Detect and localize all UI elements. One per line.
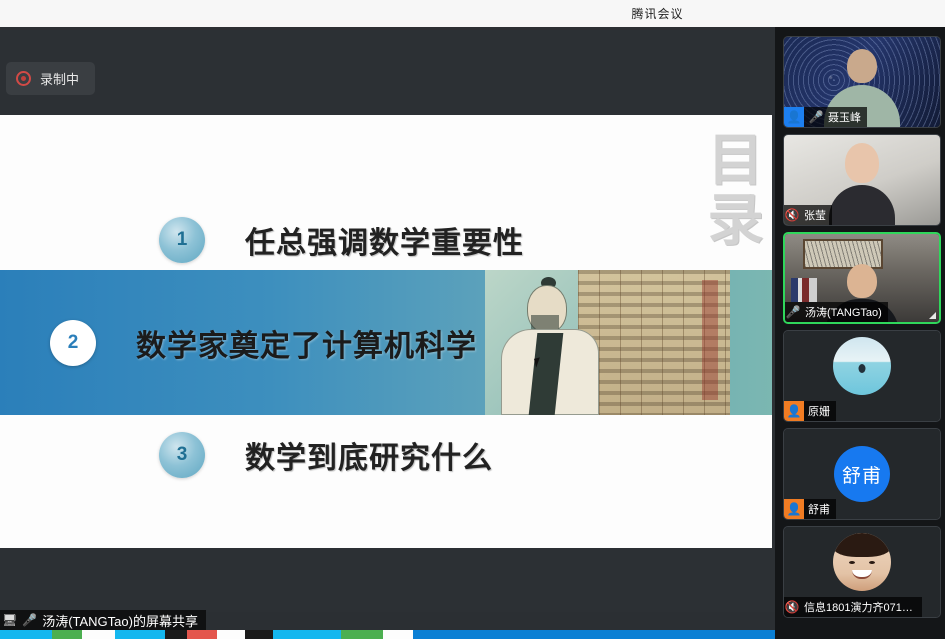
- taskbar-item-6[interactable]: [187, 630, 217, 639]
- taskbar-item-5[interactable]: [165, 630, 187, 639]
- participant-silhouette: [829, 143, 895, 226]
- person-icon: 👤: [784, 401, 804, 421]
- participant-name-5: 信息1801演力齐071610...: [804, 599, 916, 615]
- mic-off-icon[interactable]: 🔇: [784, 600, 800, 614]
- recording-label: 录制中: [40, 69, 79, 88]
- avatar-photo-mouth: [852, 570, 872, 579]
- taskbar-item-11[interactable]: [383, 630, 413, 639]
- tile-corner-marker: [929, 312, 936, 319]
- slide-item-2-text: 数学家奠定了计算机科学: [136, 321, 477, 365]
- avatar-photo-eye-right: [869, 561, 875, 564]
- participant-name-1: 张莹: [804, 207, 826, 223]
- avatar-photo-kid: [833, 533, 891, 591]
- participant-badge-0: 👤 🎤 聂玉峰: [784, 107, 867, 127]
- participant-name-4: 舒甫: [808, 501, 830, 517]
- avatar-photo-sea: [833, 337, 891, 395]
- participant-tile-1[interactable]: 🔇 张莹: [783, 134, 941, 226]
- window-title-bar: 腾讯会议: [0, 0, 945, 27]
- presentation-slide[interactable]: 目录 1 任总强调数学重要性 2 数学家奠定了计算机科学 3 数学到底研究什么: [0, 115, 772, 548]
- taskbar-item-4[interactable]: [115, 630, 165, 639]
- participant-tile-0[interactable]: 👤 🎤 聂玉峰: [783, 36, 941, 128]
- avatar: [833, 533, 891, 591]
- screen-share-label: 汤涛(TANGTao)的屏幕共享: [42, 611, 198, 630]
- slide-item-3: 3 数学到底研究什么: [0, 420, 772, 490]
- participant-tile-5[interactable]: 🔇 信息1801演力齐071610...: [783, 526, 941, 618]
- participant-tile-4[interactable]: 舒甫 👤 舒甫: [783, 428, 941, 520]
- scholar-figure: [497, 277, 602, 415]
- taskbar-item-9[interactable]: [273, 630, 341, 639]
- participant-name-0: 聂玉峰: [828, 109, 861, 125]
- participant-name-3: 原姗: [808, 403, 830, 419]
- participant-head: [847, 264, 877, 298]
- slide-item-3-text: 数学到底研究什么: [245, 433, 493, 477]
- participant-tile-2[interactable]: 🎤 汤涛(TANGTao): [783, 232, 941, 324]
- taskbar-item-1[interactable]: [0, 630, 52, 639]
- mic-dark-icon[interactable]: 🎤: [808, 110, 824, 124]
- participant-tile-3[interactable]: 👤 原姗: [783, 330, 941, 422]
- person-icon: 👤: [784, 499, 804, 519]
- ancient-scholar-illustration: [485, 270, 730, 415]
- participant-head: [847, 49, 877, 83]
- slide-item-1: 1 任总强调数学重要性: [0, 205, 772, 275]
- taskbar-item-10[interactable]: [341, 630, 383, 639]
- slide-item-1-number: 1: [159, 217, 205, 263]
- participant-badge-1: 🔇 张莹: [784, 205, 832, 225]
- record-dot-icon: [16, 71, 31, 86]
- slide-item-3-number: 3: [159, 432, 205, 478]
- participant-badge-5: 🔇 信息1801演力齐071610...: [784, 597, 922, 617]
- mic-off-icon[interactable]: 🔇: [784, 208, 800, 222]
- app-title: 腾讯会议: [631, 5, 683, 22]
- screen-share-banner: 🖥 🎤 汤涛(TANGTao)的屏幕共享: [0, 610, 206, 630]
- host-person-icon: 👤: [784, 107, 804, 127]
- participant-head: [845, 143, 879, 183]
- bookshelf: [791, 278, 817, 302]
- avatar-initials: 舒甫: [834, 446, 890, 502]
- screen-share-icon: 🖥: [2, 614, 17, 626]
- mic-on-icon: 🎤: [22, 614, 37, 626]
- slide-item-1-text: 任总强调数学重要性: [245, 218, 524, 262]
- participant-badge-2: 🎤 汤涛(TANGTao): [785, 302, 888, 322]
- taskbar-item-2[interactable]: [52, 630, 82, 639]
- mic-on-icon[interactable]: 🎤: [785, 305, 801, 319]
- participant-name-2: 汤涛(TANGTao): [805, 304, 882, 320]
- taskbar-item-8[interactable]: [245, 630, 273, 639]
- taskbar-item-3[interactable]: [82, 630, 115, 639]
- participant-shoulders: [829, 185, 895, 226]
- slide-item-2: 2 数学家奠定了计算机科学: [0, 270, 772, 415]
- avatar: [833, 337, 891, 395]
- participant-video-rail[interactable]: 👤 🎤 聂玉峰 🔇 张莹 🎤 汤涛(TANGTao): [775, 27, 945, 639]
- avatar-photo-eye-left: [849, 561, 855, 564]
- participant-badge-3: 👤 原姗: [784, 401, 836, 421]
- taskbar-item-7[interactable]: [217, 630, 245, 639]
- slide-item-2-number: 2: [50, 320, 96, 366]
- avatar-photo-subject: [859, 364, 866, 373]
- avatar-photo-hair: [833, 533, 891, 557]
- participant-badge-4: 👤 舒甫: [784, 499, 836, 519]
- recording-indicator[interactable]: 录制中: [6, 62, 95, 95]
